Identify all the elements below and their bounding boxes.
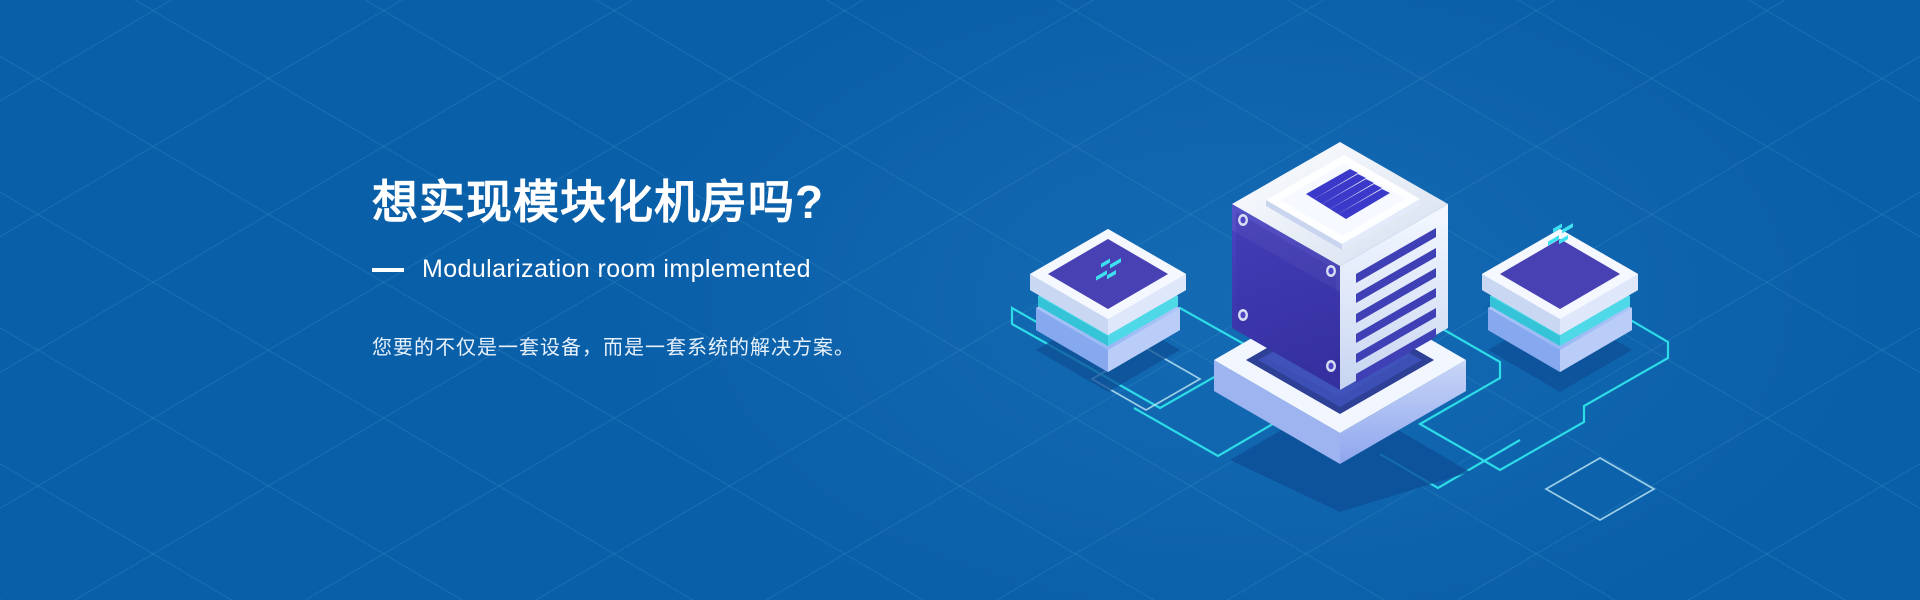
chip-module-left <box>1030 229 1186 392</box>
banner-content: 想实现模块化机房吗? Modularization room implement… <box>0 0 1920 600</box>
dash-rule-icon <box>372 268 404 272</box>
hero-banner: 想实现模块化机房吗? Modularization room implement… <box>0 0 1920 600</box>
isometric-server-illustration <box>1000 60 1800 540</box>
chip-module-right <box>1482 223 1638 392</box>
server-rack <box>1214 142 1470 512</box>
page-title: 想实现模块化机房吗? <box>372 175 1072 229</box>
subheading-row: Modularization room implemented <box>372 255 1072 284</box>
banner-text-block: 想实现模块化机房吗? Modularization room implement… <box>372 175 1072 364</box>
banner-description: 您要的不仅是一套设备，而是一套系统的解决方案。 <box>372 332 1072 364</box>
banner-subheading: Modularization room implemented <box>422 255 811 284</box>
diamond-outline-small-right <box>1546 458 1654 520</box>
